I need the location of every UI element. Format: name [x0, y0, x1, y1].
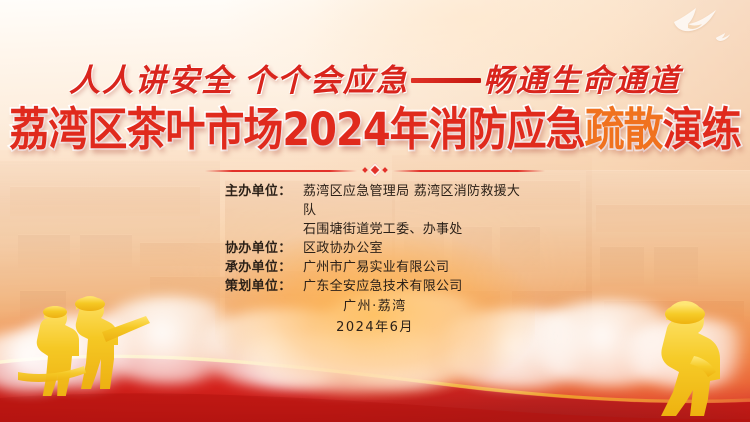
- divider: [205, 165, 545, 177]
- title-segment-a: 荔湾区茶叶市场2024年消防应急: [9, 104, 584, 156]
- organizer-row: 主办单位： 荔湾区应急管理局 荔湾区消防救援大队: [225, 182, 525, 220]
- title-segment-highlight: 疏散: [585, 104, 663, 156]
- organizer-row: 主办单位： 石围塘街道党工委、办事处: [225, 220, 525, 239]
- organizer-row: 承办单位： 广州市广易实业有限公司: [225, 258, 525, 277]
- dove-icon: [672, 4, 718, 34]
- title-segment-b: 演练: [663, 104, 741, 156]
- footer: 广州·荔湾 2024年6月: [0, 296, 750, 338]
- organizer-value: 石围塘街道党工委、办事处: [303, 220, 525, 239]
- footer-date: 2024年6月: [0, 317, 750, 338]
- slogan-part-1: 人人讲安全 个个会应急: [69, 63, 409, 98]
- organizer-value: 区政协办公室: [303, 239, 525, 258]
- organizer-label: 协办单位：: [225, 239, 303, 258]
- organizer-value: 广东全安应急技术有限公司: [303, 277, 525, 296]
- page-title: 荔湾区茶叶市场2024年消防应急疏散演练: [0, 103, 750, 158]
- divider-line-left: [205, 170, 357, 172]
- slogan-dash: [411, 78, 481, 83]
- organizer-label: 主办单位：: [225, 182, 303, 220]
- organizer-row: 协办单位： 区政协办公室: [225, 239, 525, 258]
- organizer-value: 荔湾区应急管理局 荔湾区消防救援大队: [303, 182, 525, 220]
- organizer-value: 广州市广易实业有限公司: [303, 258, 525, 277]
- organizer-row: 策划单位： 广东全安应急技术有限公司: [225, 277, 525, 296]
- slogan-part-2: 畅通生命通道: [483, 63, 681, 98]
- organizer-list: 主办单位： 荔湾区应急管理局 荔湾区消防救援大队 主办单位： 石围塘街道党工委、…: [0, 182, 750, 296]
- divider-line-right: [393, 170, 545, 172]
- organizer-label: 策划单位：: [225, 277, 303, 296]
- poster-root: 人人讲安全 个个会应急畅通生命通道 荔湾区茶叶市场2024年消防应急疏散演练 主…: [0, 0, 750, 422]
- footer-location: 广州·荔湾: [0, 296, 750, 317]
- divider-diamond-icon: [363, 165, 387, 175]
- organizer-label: 承办单位：: [225, 258, 303, 277]
- slogan: 人人讲安全 个个会应急畅通生命通道: [0, 55, 750, 100]
- dove-icon: [715, 32, 730, 42]
